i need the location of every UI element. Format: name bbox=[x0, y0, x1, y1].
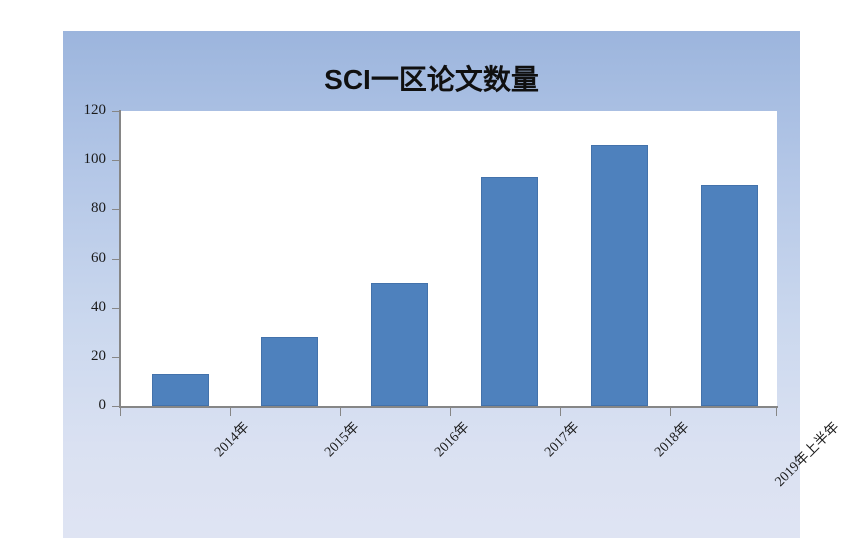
y-axis-label-80: 80 bbox=[46, 201, 106, 216]
bar-2014[interactable] bbox=[152, 374, 209, 406]
x-axis-tick-2 bbox=[340, 408, 341, 416]
x-axis-tick-4 bbox=[560, 408, 561, 416]
y-axis-tick-120 bbox=[112, 111, 120, 112]
bar-2016[interactable] bbox=[371, 283, 428, 406]
bar-2019-h1[interactable] bbox=[701, 185, 758, 406]
y-axis-tick-20 bbox=[112, 357, 120, 358]
y-axis-label-40: 40 bbox=[46, 300, 106, 315]
x-axis-label-2016: 2016年 bbox=[374, 417, 473, 516]
x-axis-tick-3 bbox=[450, 408, 451, 416]
x-axis-tick-5 bbox=[670, 408, 671, 416]
y-axis-label-60: 60 bbox=[46, 251, 106, 266]
x-axis-label-2015: 2015年 bbox=[264, 417, 363, 516]
x-axis-label-2018: 2018年 bbox=[594, 417, 693, 516]
y-axis-tick-40 bbox=[112, 308, 120, 309]
y-axis-label-120: 120 bbox=[46, 103, 106, 118]
chart-area: SCI一区论文数量 120 100 80 60 40 20 0 bbox=[63, 31, 800, 538]
y-axis-label-100: 100 bbox=[46, 152, 106, 167]
chart-title: SCI一区论文数量 bbox=[63, 58, 800, 98]
x-axis-label-2019-h1: 2019年上半年 bbox=[716, 417, 843, 544]
x-axis-label-2014: 2014年 bbox=[154, 417, 253, 516]
slide-canvas: SCI一区论文数量 120 100 80 60 40 20 0 bbox=[0, 0, 850, 549]
y-axis-tick-80 bbox=[112, 209, 120, 210]
y-axis-label-20: 20 bbox=[46, 349, 106, 364]
y-axis-label-0: 0 bbox=[46, 398, 106, 413]
y-axis-tick-60 bbox=[112, 259, 120, 260]
x-axis-line bbox=[119, 406, 778, 408]
x-axis-tick-6 bbox=[776, 408, 777, 416]
y-axis-tick-0 bbox=[112, 406, 120, 407]
x-axis-label-2017: 2017年 bbox=[484, 417, 583, 516]
x-axis-tick-1 bbox=[230, 408, 231, 416]
bar-2017[interactable] bbox=[481, 177, 538, 406]
plot-area bbox=[120, 111, 777, 406]
y-axis-tick-100 bbox=[112, 160, 120, 161]
x-axis-tick-0 bbox=[120, 408, 121, 416]
bar-2015[interactable] bbox=[261, 337, 318, 406]
bar-2018[interactable] bbox=[591, 145, 648, 406]
